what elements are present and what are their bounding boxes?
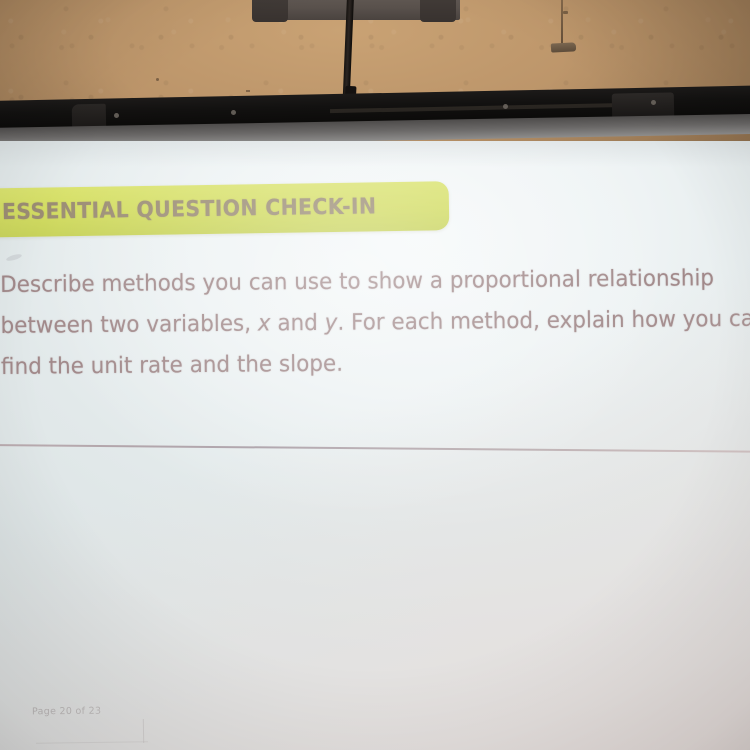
cord-clip-icon — [551, 42, 576, 52]
rail-screw — [231, 110, 236, 115]
hanging-cord-icon — [561, 0, 563, 44]
projector-mount-bracket-left-icon — [252, 0, 288, 22]
rail-screw — [651, 100, 656, 105]
wall-mark — [156, 78, 159, 81]
board-light-falloff — [0, 141, 750, 750]
rail-screw — [114, 113, 119, 118]
rail-screw — [503, 104, 508, 109]
wall-mark — [246, 90, 250, 92]
classroom-photo-scene: ESSENTIAL QUESTION CHECK-IN Describe met… — [0, 0, 750, 750]
wall-mark — [563, 11, 568, 14]
projected-slide-board: ESSENTIAL QUESTION CHECK-IN Describe met… — [0, 141, 750, 750]
projector-mount-bracket-right-icon — [420, 0, 456, 22]
